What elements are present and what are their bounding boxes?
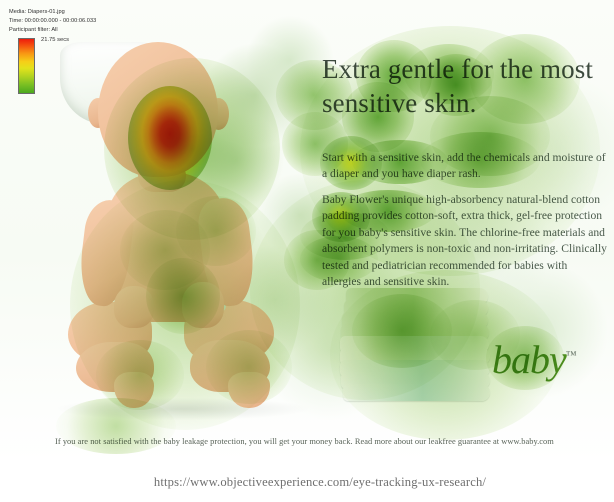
stimulus-image: Extra gentle for the most sensitive skin… — [0, 0, 614, 462]
baby-photo — [60, 42, 310, 412]
gradient-colorbar-icon — [18, 38, 35, 94]
baby-head — [98, 42, 218, 177]
diaper-stack — [340, 288, 492, 406]
heatmap-metadata-panel: Media: Diapers-01.jpg Time: 00:00:00.000… — [9, 8, 96, 35]
heatmap-legend: 21.75 secs — [18, 38, 69, 94]
trademark-symbol: ™ — [566, 350, 577, 362]
metadata-media: Media: Diapers-01.jpg — [9, 8, 96, 17]
source-url: https://www.objectiveexperience.com/eye-… — [128, 475, 486, 490]
legend-max-label: 21.75 secs — [41, 37, 69, 43]
baby-hand-left — [114, 286, 154, 328]
brand-logo-text: baby — [492, 337, 566, 382]
ad-headline: Extra gentle for the most sensitive skin… — [322, 52, 606, 120]
ad-paragraph-1: Start with a sensitive skin, add the che… — [322, 150, 608, 183]
ad-footer-text: If you are not satisfied with the baby l… — [55, 437, 561, 446]
baby-hand-right — [182, 282, 224, 328]
baby-foot-right — [228, 372, 270, 408]
metadata-participant-filter: Participant filter: All — [9, 26, 96, 35]
ad-paragraph-2: Baby Flower's unique high-absorbency nat… — [322, 192, 608, 291]
diaper-pad — [343, 384, 490, 401]
brand-logo: baby™ — [492, 336, 577, 383]
eye-tracking-heatmap-page: Extra gentle for the most sensitive skin… — [0, 0, 614, 502]
metadata-time: Time: 00:00:00.000 - 00:00:06.033 — [9, 17, 96, 26]
caption-bar: https://www.objectiveexperience.com/eye-… — [0, 462, 614, 502]
baby-foot-left — [114, 372, 154, 408]
